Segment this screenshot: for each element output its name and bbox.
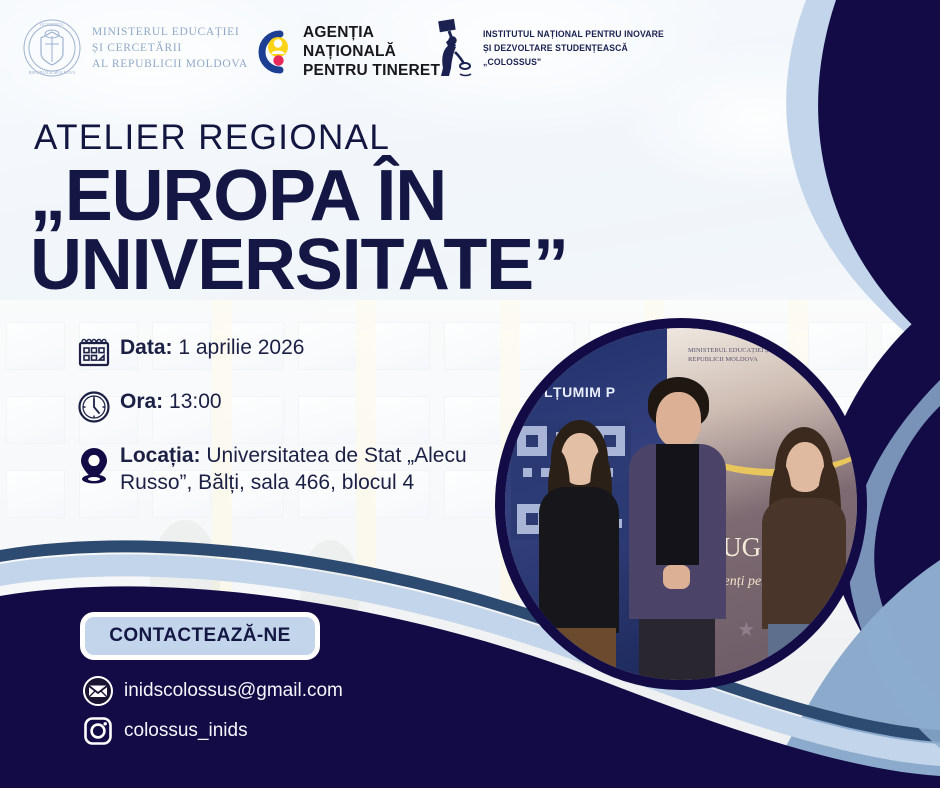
ant-circle-mark-icon	[250, 28, 294, 76]
svg-text:REPUBLICII MOLDOVA: REPUBLICII MOLDOVA	[28, 70, 76, 75]
colossus-line-3: „COLOSSUS"	[483, 56, 664, 70]
clock-icon-wrap	[72, 388, 116, 424]
contact-button-label: CONTACTEAZĂ-NE	[109, 625, 291, 647]
person-left	[533, 420, 625, 680]
agency-logo-text: AGENȚIA NAȚIONALĂ PENTRU TINERET	[303, 24, 440, 81]
agency-line-1: AGENȚIA	[303, 24, 440, 43]
contact-button[interactable]: CONTACTEAZĂ-NE	[80, 612, 320, 660]
email-icon	[83, 676, 113, 706]
detail-row-location: Locația: Universitatea de Stat „Alecu Ru…	[72, 442, 492, 497]
contact-email-row[interactable]: inidscolossus@gmail.com	[80, 676, 343, 706]
moldova-state-seal-icon: GUVERNUL REPUBLICII MOLDOVA	[22, 18, 82, 78]
detail-row-date: Data: 1 aprilie 2026	[72, 334, 492, 370]
person-middle	[625, 377, 731, 680]
agency-logo: AGENȚIA NAȚIONALĂ PENTRU TINERET	[250, 24, 440, 81]
contact-email-value: inidscolossus@gmail.com	[116, 680, 343, 702]
detail-time-label: Ora:	[120, 390, 163, 413]
ministry-line-3: AL REPUBLICII MOLDOVA	[92, 56, 248, 72]
person-right	[758, 427, 850, 680]
map-pin-icon-wrap	[72, 442, 116, 486]
ministry-logo-text: MINISTERUL EDUCAȚIEI ȘI CERCETĂRII AL RE…	[92, 24, 248, 73]
event-kicker: ATELIER REGIONAL	[34, 118, 390, 158]
graduate-statue-icon	[425, 18, 477, 80]
detail-row-time: Ora: 13:00	[72, 388, 492, 424]
ministry-line-1: MINISTERUL EDUCAȚIEI	[92, 24, 248, 40]
detail-time-value: 13:00	[169, 390, 222, 413]
detail-date-label: Data:	[120, 336, 173, 359]
contact-instagram-row[interactable]: colossus_inids	[80, 716, 248, 746]
email-icon-wrap	[80, 676, 116, 706]
event-photo: MULȚUMIM P MINISTERUL EDUCAȚIEI ȘI CERCE…	[495, 318, 867, 690]
clock-icon	[77, 390, 111, 424]
event-photo-content: MULȚUMIM P MINISTERUL EDUCAȚIEI ȘI CERCE…	[505, 328, 857, 680]
svg-text:GUVERNUL: GUVERNUL	[40, 22, 64, 27]
instagram-icon-wrap	[80, 716, 116, 746]
poster-canvas: GUVERNUL REPUBLICII MOLDOVA MINISTERUL E…	[0, 0, 940, 788]
colossus-line-1: INSTITUTUL NAȚIONAL PENTRU INOVARE	[483, 28, 664, 42]
detail-date-text: Data: 1 aprilie 2026	[116, 334, 304, 361]
agency-line-3: PENTRU TINERET	[303, 62, 440, 81]
detail-date-value: 1 aprilie 2026	[178, 336, 304, 359]
colossus-logo: INSTITUTUL NAȚIONAL PENTRU INOVARE ȘI DE…	[425, 18, 675, 80]
map-pin-icon	[77, 446, 111, 486]
detail-time-text: Ora: 13:00	[116, 388, 222, 415]
event-details: Data: 1 aprilie 2026 Ora: 13:00	[72, 334, 492, 497]
colossus-line-2: ȘI DEZVOLTARE STUDENȚEASCĂ	[483, 42, 664, 56]
agency-line-2: NAȚIONALĂ	[303, 43, 440, 62]
calendar-icon-wrap	[72, 334, 116, 370]
detail-location-label: Locația:	[120, 444, 201, 467]
photo-banner-seal-text: MINISTERUL EDUCAȚIEI ȘI CERCETĂRII AL RE…	[688, 346, 857, 364]
page-title: „EUROPA ÎN UNIVERSITATE”	[30, 162, 568, 300]
detail-location-text: Locația: Universitatea de Stat „Alecu Ru…	[116, 442, 492, 497]
logo-bar: GUVERNUL REPUBLICII MOLDOVA MINISTERUL E…	[0, 0, 940, 104]
instagram-icon	[83, 716, 113, 746]
ministry-line-2: ȘI CERCETĂRII	[92, 40, 248, 56]
photo-banner-left-text: MULȚUMIM P	[521, 384, 615, 400]
colossus-logo-text: INSTITUTUL NAȚIONAL PENTRU INOVARE ȘI DE…	[483, 28, 664, 69]
calendar-icon	[77, 336, 111, 370]
contact-instagram-value: colossus_inids	[116, 720, 248, 742]
ministry-logo: GUVERNUL REPUBLICII MOLDOVA MINISTERUL E…	[22, 18, 248, 78]
